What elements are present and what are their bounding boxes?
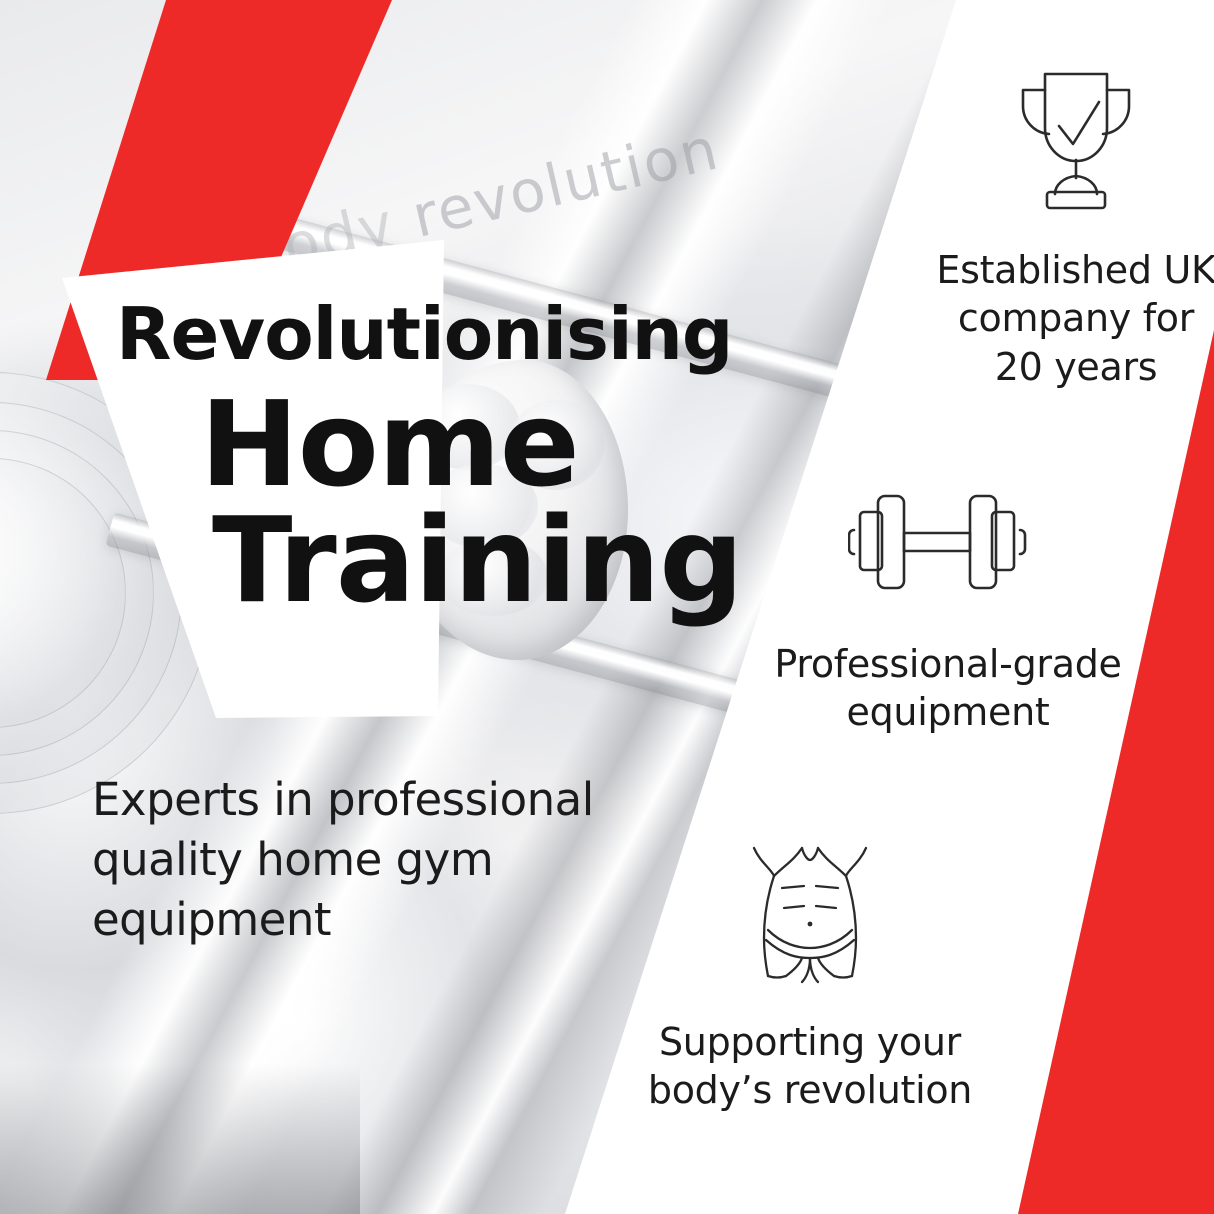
subheading-copy: Experts in professional quality home gym… — [92, 770, 672, 950]
floor-shadow — [0, 1064, 360, 1214]
feature-label-line: Established UK — [916, 246, 1214, 295]
subcopy-line-1: Experts in professional — [92, 773, 594, 826]
torso-abs-icon — [640, 842, 980, 996]
feature-list: Established UK company for 20 years Prof… — [620, 0, 1214, 1214]
feature-item-established: Established UK company for 20 years — [916, 62, 1214, 392]
feature-item-equipment: Professional-grade equipment — [768, 478, 1128, 737]
feature-label-line: equipment — [768, 688, 1128, 737]
feature-label-line: body’s revolution — [640, 1066, 980, 1115]
dumbbell-icon — [768, 478, 1128, 618]
feature-item-body: Supporting your body’s revolution — [640, 842, 980, 1115]
feature-label-line: 20 years — [916, 343, 1214, 392]
subcopy-line-3: equipment — [92, 893, 331, 946]
promo-poster: body revolution Revolutionising Home Tra… — [0, 0, 1214, 1214]
feature-label-line: company for — [916, 294, 1214, 343]
feature-label-line: Supporting your — [640, 1018, 980, 1067]
feature-label-line: Professional-grade — [768, 640, 1128, 689]
trophy-check-icon — [916, 62, 1214, 224]
subcopy-line-2: quality home gym — [92, 833, 493, 886]
